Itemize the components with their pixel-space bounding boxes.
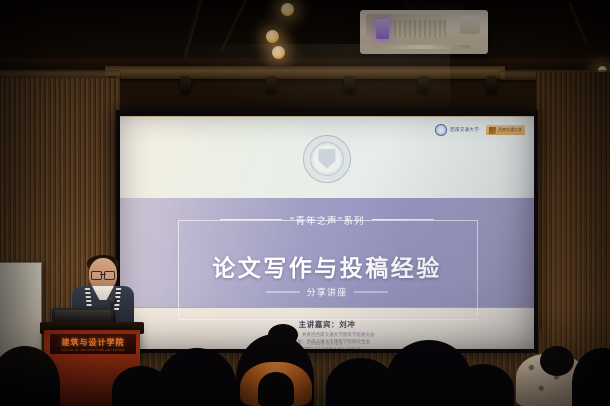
podium-sign-english: SCHOOL OF ARCHITECTURE AND DESIGN [61, 349, 124, 352]
slide-subtitle: 分享讲座 [307, 285, 348, 298]
university-logo-text: 西南交通大学 [450, 127, 479, 133]
school-logo-text: 西南交通大学 [498, 127, 522, 133]
lighting-track-rail [105, 66, 505, 79]
series-label: “青年之声”系列 [290, 213, 365, 227]
subtitle-rule-left [266, 291, 300, 292]
audience-hair-bun [268, 324, 298, 346]
organizer-line: 建筑学院2022级硕士城乡规划班 [120, 347, 534, 349]
projector-lens [460, 16, 480, 34]
spotlight-fixture [344, 76, 355, 93]
projector-face [366, 14, 446, 36]
ceiling-projector [360, 10, 488, 54]
ceiling-bulb-3 [272, 46, 285, 59]
podium-sign: 建筑与设计学院 SCHOOL OF ARCHITECTURE AND DESIG… [50, 334, 136, 354]
slide-title: 论文写作与投稿经验 [120, 249, 534, 283]
university-seal-icon [435, 124, 447, 136]
lecture-hall-photo: 西南交通大学 西南交通大学 “青年之声”系列 论文写作与投稿经验 分享讲座 主讲… [0, 0, 610, 406]
spotlight-fixture [418, 76, 429, 93]
projector-vent-grill [394, 20, 446, 38]
projector-trim-strip [374, 45, 470, 49]
slide-subtitle-line: 分享讲座 [120, 285, 534, 298]
glasses-icon [91, 271, 115, 278]
ceiling-bulb-1 [281, 3, 294, 16]
slide-speaker-line: 主讲嘉宾：刘冲 [120, 319, 534, 330]
slide-series-line: “青年之声”系列 [120, 213, 534, 227]
subtitle-rule-right [354, 291, 388, 292]
series-rule-left [220, 219, 282, 220]
series-rule-right [372, 219, 434, 220]
ceiling-bulb-2 [266, 30, 279, 43]
spotlight-fixture [486, 76, 497, 93]
audience-silhouette [258, 372, 294, 406]
microphone-head-icon [108, 296, 117, 305]
slide-top-rule [120, 116, 534, 117]
architecture-school-logo: 西南交通大学 [486, 125, 525, 135]
swjtu-university-logo: 西南交通大学 [435, 124, 479, 136]
slide-logo-row: 西南交通大学 西南交通大学 [435, 124, 525, 136]
ceiling [0, 0, 610, 62]
emblem-shield-icon [319, 149, 336, 169]
audience-silhouette [540, 346, 574, 376]
podium-sign-chinese: 建筑与设计学院 [62, 337, 125, 348]
spotlight-fixture [266, 76, 277, 93]
university-seal-emblem [303, 135, 351, 183]
presentation-slide: 西南交通大学 西南交通大学 “青年之声”系列 论文写作与投稿经验 分享讲座 主讲… [120, 116, 534, 349]
spotlight-fixture [180, 76, 191, 93]
slide-date: 2023.04.25 [120, 341, 534, 346]
school-mark-icon [489, 127, 496, 134]
organizer-line: 主办单位：共青团西南交通大学建筑学院委员会 [120, 332, 534, 340]
projector-led-panel [376, 19, 389, 39]
